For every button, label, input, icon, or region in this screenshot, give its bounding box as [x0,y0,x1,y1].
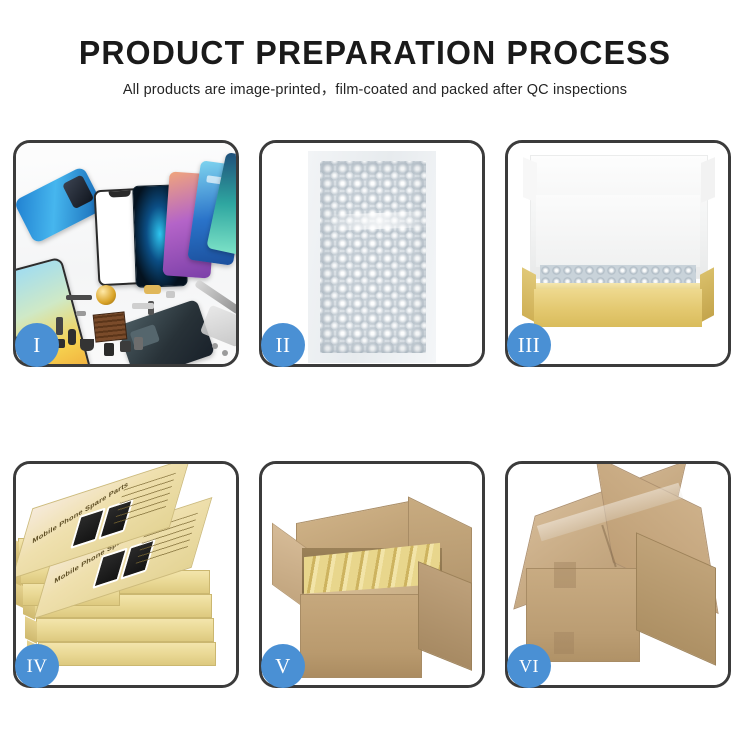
product-preparation-infographic: PRODUCT PREPARATION PROCESS All products… [0,0,750,750]
flex-cable-icon [66,295,92,300]
step-panel-4: Mobile Phone Spare Parts Mobile Phone Sp… [13,461,239,688]
header: PRODUCT PREPARATION PROCESS All products… [0,0,750,99]
box-right-side [700,267,714,322]
step-panel-6: VI [505,461,731,688]
sim-tray-icon [76,311,86,316]
carton-tab-upper [554,562,576,588]
gold-connector-icon [144,285,161,294]
step-panel-3: III [505,140,731,367]
foam-sheet-icon [536,195,700,267]
step-badge-1: I [15,323,59,367]
stacked-box [38,642,216,666]
page-subtitle: All products are image-printed，film-coat… [0,72,750,99]
step-panel-5: V [259,461,485,688]
step-badge-2: II [261,323,305,367]
box-spec-lines [113,473,176,527]
connector-icon [104,343,114,356]
speaker-icon [80,339,94,351]
carton-front-panel [526,568,640,662]
step-panel-2: II [259,140,485,367]
chip-array-icon [93,311,128,342]
small-part-icon [166,291,175,298]
step-badge-4: IV [15,644,59,688]
metal-bracket-icon [134,337,143,350]
screw-icon [222,350,228,356]
ic-chip-icon [120,341,131,352]
screw-icon [212,343,218,349]
stacked-box [36,618,214,642]
carton-tab-lower [554,632,574,654]
carton-front-panel [300,594,422,678]
step-badge-5: V [261,644,305,688]
ribbon-cable-icon [132,303,154,309]
steps-grid: I II III [13,140,737,688]
phone-back-glass-icon [16,166,105,244]
step-badge-6: VI [507,644,551,688]
antenna-flex-icon [56,317,63,335]
page-title: PRODUCT PREPARATION PROCESS [11,0,739,72]
step-badge-3: III [507,323,551,367]
step-panel-1: I [13,140,239,367]
bubble-wrap-icon [320,161,426,353]
camera-module-icon [68,329,76,345]
box-front-panel [534,289,702,327]
vibration-motor-icon [96,285,116,305]
